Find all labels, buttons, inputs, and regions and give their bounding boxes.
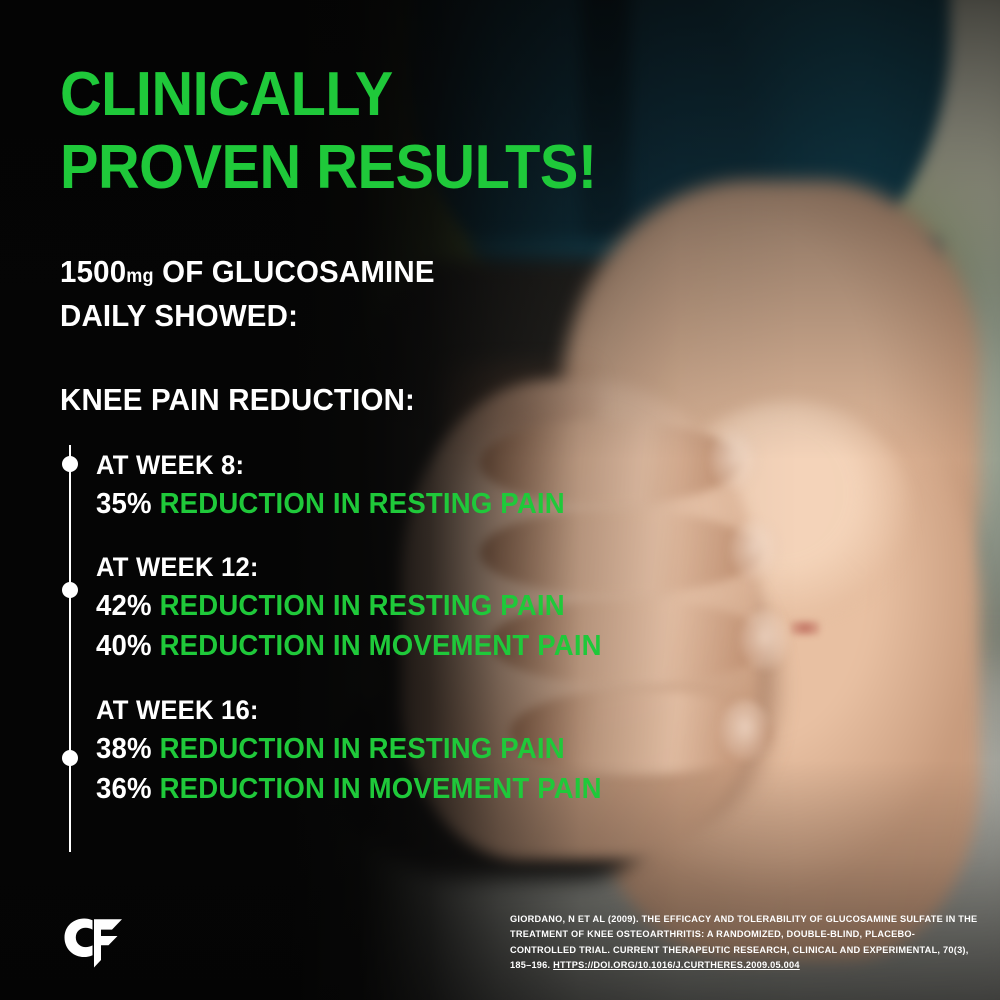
stat-row: 35% REDUCTION IN RESTING PAIN	[96, 484, 685, 525]
timeline-dot-week-12	[62, 582, 78, 598]
brand-logo	[62, 916, 140, 970]
result-block-week-16: AT WEEK 16: 38% REDUCTION IN RESTING PAI…	[96, 693, 716, 810]
timeline-dot-week-16	[62, 750, 78, 766]
page-title: CLINICALLY PROVEN RESULTS!	[60, 58, 597, 204]
stat-description: REDUCTION IN MOVEMENT PAIN	[160, 630, 602, 662]
dosage-rest: OF GLUCOSAMINE	[154, 254, 435, 289]
stat-percent: 35%	[96, 488, 152, 520]
cf-monogram-icon	[62, 916, 140, 970]
poster-content: CLINICALLY PROVEN RESULTS! 1500mg OF GLU…	[0, 0, 1000, 1000]
citation-text: GIORDANO, N ET AL (2009). THE EFFICACY A…	[510, 912, 978, 974]
stat-percent: 40%	[96, 630, 152, 662]
stat-description: REDUCTION IN RESTING PAIN	[160, 590, 565, 622]
dosage-line-two: DAILY SHOWED:	[60, 298, 298, 333]
stat-percent: 42%	[96, 590, 152, 622]
citation-doi-link[interactable]: HTTPS://DOI.ORG/10.1016/J.CURTHERES.2009…	[553, 960, 800, 970]
stat-row: 38% REDUCTION IN RESTING PAIN	[96, 729, 685, 770]
stat-description: REDUCTION IN RESTING PAIN	[160, 733, 565, 765]
stat-percent: 38%	[96, 733, 152, 765]
dosage-amount: 1500	[60, 254, 126, 289]
timeline-dot-week-8	[62, 456, 78, 472]
stat-row: 36% REDUCTION IN MOVEMENT PAIN	[96, 769, 685, 810]
result-block-week-12: AT WEEK 12: 42% REDUCTION IN RESTING PAI…	[96, 550, 716, 667]
poster-canvas: CLINICALLY PROVEN RESULTS! 1500mg OF GLU…	[0, 0, 1000, 1000]
stat-percent: 36%	[96, 773, 152, 805]
section-heading: KNEE PAIN REDUCTION:	[60, 382, 415, 418]
dosage-unit: mg	[126, 266, 153, 287]
results-list: AT WEEK 8: 35% REDUCTION IN RESTING PAIN…	[96, 448, 716, 810]
week-label: AT WEEK 16:	[96, 693, 685, 729]
stat-description: REDUCTION IN MOVEMENT PAIN	[160, 773, 602, 805]
stat-row: 40% REDUCTION IN MOVEMENT PAIN	[96, 626, 685, 667]
stat-description: REDUCTION IN RESTING PAIN	[160, 488, 565, 520]
result-block-week-8: AT WEEK 8: 35% REDUCTION IN RESTING PAIN	[96, 448, 716, 524]
week-label: AT WEEK 12:	[96, 550, 685, 586]
dosage-statement: 1500mg OF GLUCOSAMINE DAILY SHOWED:	[60, 250, 435, 338]
timeline-rail	[69, 445, 71, 852]
stat-row: 42% REDUCTION IN RESTING PAIN	[96, 586, 685, 627]
week-label: AT WEEK 8:	[96, 448, 685, 484]
